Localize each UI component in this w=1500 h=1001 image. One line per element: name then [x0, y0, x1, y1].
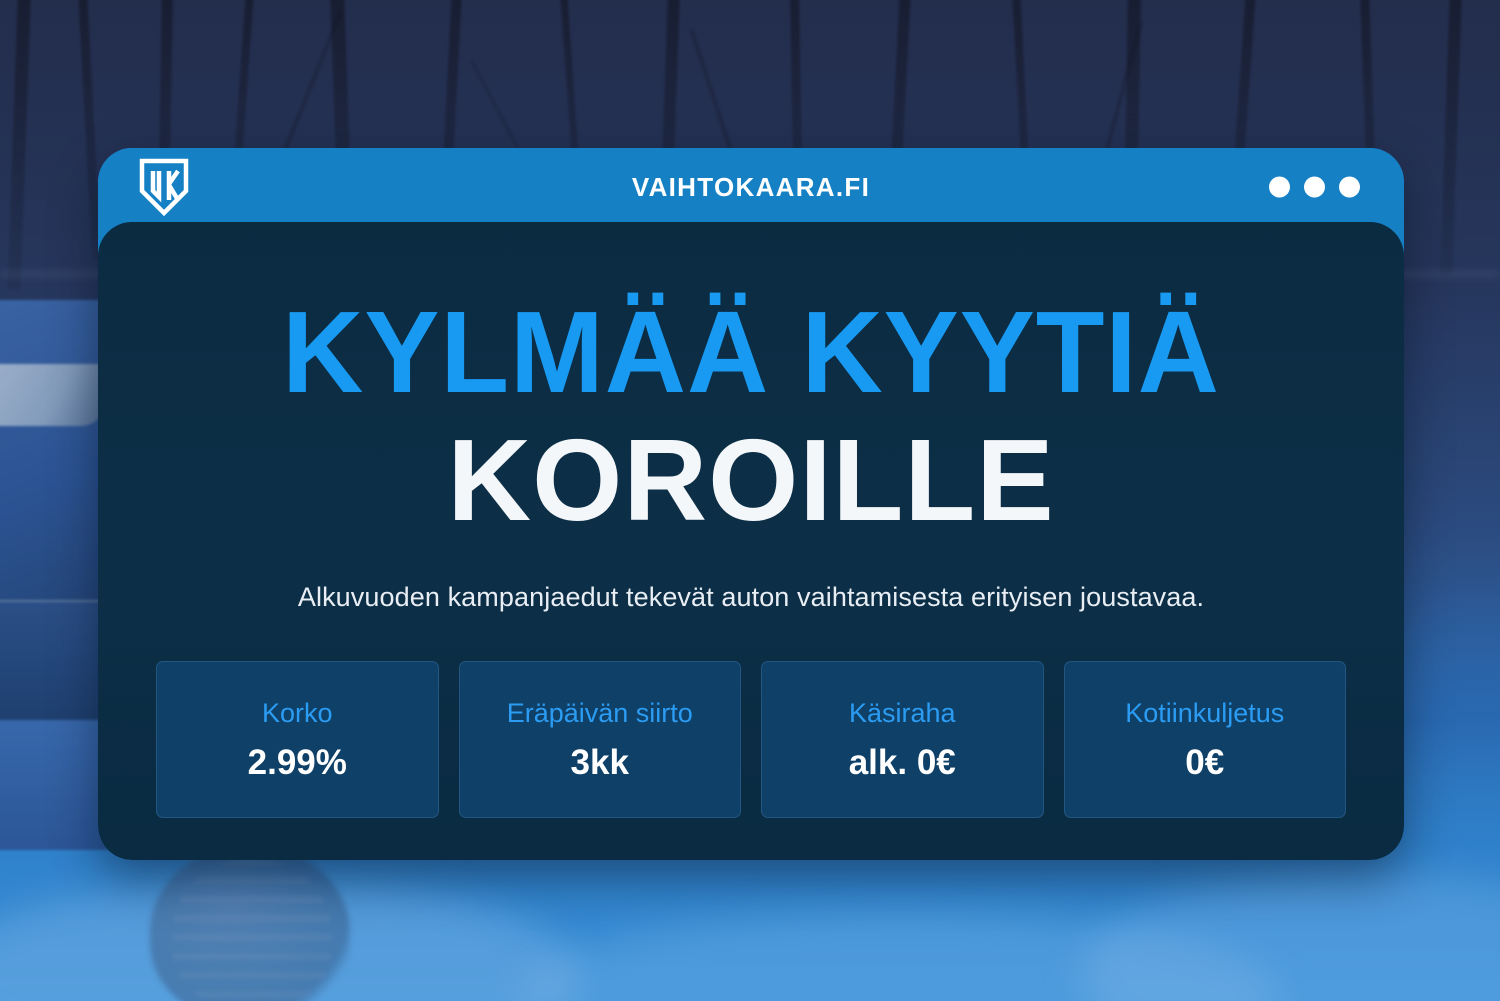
- hero-subtitle: Alkuvuoden kampanjaedut tekevät auton va…: [98, 538, 1404, 613]
- benefit-card-label: Kotiinkuljetus: [1125, 700, 1284, 727]
- screenshot-stage: VAIHTOKAARA.FI KYLMÄÄ KYYTIÄ KOROILLE Al…: [0, 0, 1500, 1001]
- headline-line-2: KOROILLE: [98, 410, 1404, 538]
- benefit-card-korko[interactable]: Korko 2.99%: [156, 661, 439, 818]
- benefit-card-value: 3kk: [571, 745, 629, 780]
- benefit-card-label: Korko: [262, 700, 333, 727]
- benefit-card-label: Eräpäivän siirto: [507, 700, 693, 727]
- benefit-card-kasiraha[interactable]: Käsiraha alk. 0€: [761, 661, 1044, 818]
- tree-branch: [690, 29, 736, 163]
- car-headlight: [0, 364, 105, 426]
- window-dot-3[interactable]: [1339, 177, 1360, 198]
- snow-drift: [1080, 870, 1500, 1001]
- site-title: VAIHTOKAARA.FI: [632, 172, 870, 203]
- headline-line-1: KYLMÄÄ KYYTIÄ: [118, 222, 1385, 410]
- tree-trunk: [1440, 0, 1462, 274]
- window-controls[interactable]: [1269, 177, 1360, 198]
- benefit-card-erapaivan-siirto[interactable]: Eräpäivän siirto 3kk: [459, 661, 742, 818]
- benefit-cards-row: Korko 2.99% Eräpäivän siirto 3kk Käsirah…: [98, 613, 1404, 818]
- benefit-card-kotiinkuljetus[interactable]: Kotiinkuljetus 0€: [1064, 661, 1347, 818]
- browser-titlebar: VAIHTOKAARA.FI: [98, 148, 1404, 226]
- window-dot-1[interactable]: [1269, 177, 1290, 198]
- window-content-panel: KYLMÄÄ KYYTIÄ KOROILLE Alkuvuoden kampan…: [98, 222, 1404, 860]
- browser-window: VAIHTOKAARA.FI KYLMÄÄ KYYTIÄ KOROILLE Al…: [98, 148, 1404, 860]
- benefit-card-value: 0€: [1185, 745, 1224, 780]
- vk-shield-logo-icon[interactable]: [136, 157, 192, 217]
- benefit-card-value: 2.99%: [248, 745, 347, 780]
- window-dot-2[interactable]: [1304, 177, 1325, 198]
- car-tire-tread: [172, 858, 332, 1001]
- tree-trunk: [8, 0, 31, 290]
- benefit-card-value: alk. 0€: [849, 745, 956, 780]
- benefit-card-label: Käsiraha: [849, 700, 956, 727]
